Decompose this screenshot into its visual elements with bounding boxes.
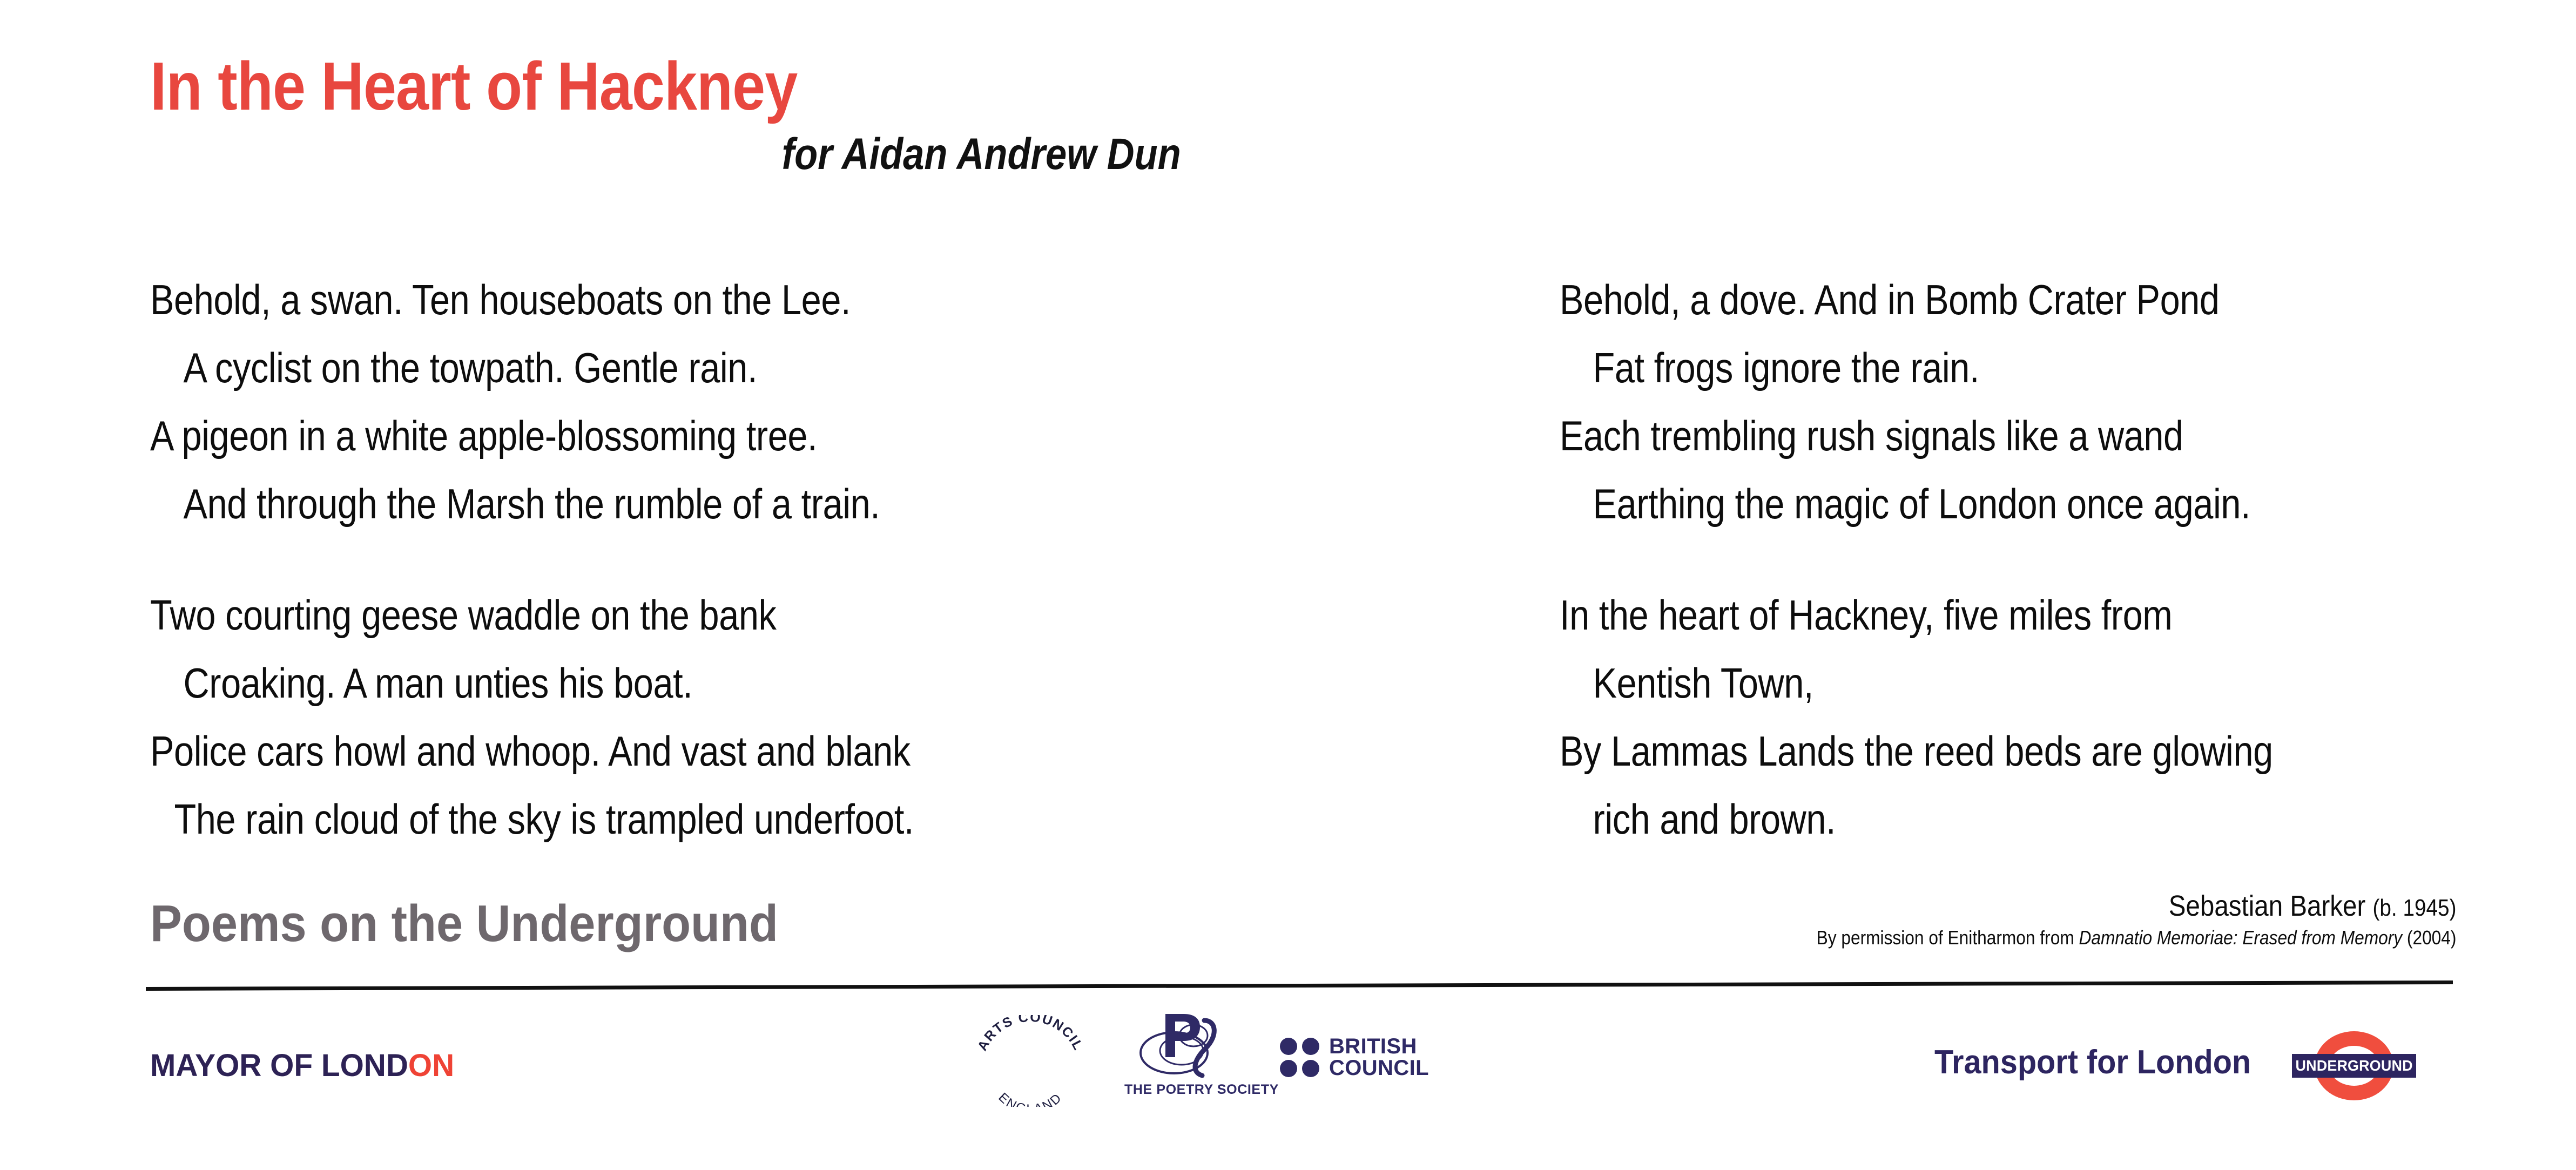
stanza: In the heart of Hackney, five miles from… <box>1560 581 2576 853</box>
poem-line: By Lammas Lands the reed beds are glowin… <box>1560 717 2469 785</box>
arts-council-bottom-text: ENGLAND <box>995 1090 1065 1107</box>
page-title: In the Heart of Hackney <box>150 52 1231 121</box>
arts-council-england-logo: ARTS COUNCIL ENGLAND <box>966 1015 1095 1107</box>
poetry-society-monogram <box>1135 1011 1243 1081</box>
poem-line: A cyclist on the towpath. Gentle rain. <box>150 334 1208 402</box>
poem-line: Earthing the magic of London once again. <box>1560 470 2469 538</box>
dot <box>1302 1038 1319 1055</box>
poem-line: Two courting geese waddle on the bank <box>150 581 1208 649</box>
logo-strip: MAYOR OF LONDON ARTS COUNCIL ENGLAND <box>0 1005 2576 1113</box>
permission-suffix: (2004) <box>2402 926 2456 949</box>
poem-dedication: for Aidan Andrew Dun <box>150 129 1218 180</box>
poem-column-left: Behold, a swan. Ten houseboats on the Le… <box>150 266 1387 853</box>
svg-text:ENGLAND: ENGLAND <box>995 1090 1065 1107</box>
author-credit: Sebastian Barker (b. 1945) <box>1816 890 2456 922</box>
dot <box>1302 1060 1319 1077</box>
dot <box>1280 1060 1297 1077</box>
poem-column-right: Behold, a dove. And in Bomb Crater Pond … <box>1387 266 2576 853</box>
poem-line: And through the Marsh the rumble of a tr… <box>150 470 1208 538</box>
footer-row: Poems on the Underground Sebastian Barke… <box>150 890 2456 950</box>
poem-line: A pigeon in a white apple-blossoming tre… <box>150 402 1208 470</box>
dot <box>1280 1038 1297 1055</box>
author-dates: (b. 1945) <box>2372 895 2456 921</box>
poem-body: Behold, a swan. Ten houseboats on the Le… <box>150 266 2451 853</box>
mayor-of-london-logo: MAYOR OF LONDON <box>150 1047 454 1084</box>
poem-line: Police cars howl and whoop. And vast and… <box>150 717 1208 785</box>
footer-divider <box>146 980 2453 991</box>
svg-text:ARTS COUNCIL: ARTS COUNCIL <box>975 1015 1087 1053</box>
poem-line: Fat frogs ignore the rain. <box>1560 334 2469 402</box>
poem-line: Behold, a swan. Ten houseboats on the Le… <box>150 266 1208 334</box>
stanza: Behold, a dove. And in Bomb Crater Pond … <box>1560 266 2576 538</box>
british-council-line1: BRITISH <box>1329 1036 1429 1057</box>
british-council-dots-icon <box>1280 1038 1319 1077</box>
poem-line: Croaking. A man unties his boat. <box>150 649 1208 717</box>
poem-line: In the heart of Hackney, five miles from <box>1560 581 2469 649</box>
roundel-label: UNDERGROUND <box>2295 1057 2412 1074</box>
permission-prefix: By permission of Enitharmon from <box>1816 926 2079 949</box>
poem-line: The rain cloud of the sky is trampled un… <box>150 785 1208 853</box>
british-council-line2: COUNCIL <box>1329 1057 1429 1079</box>
british-council-logo: BRITISH COUNCIL <box>1280 1036 1429 1079</box>
series-heading: Poems on the Underground <box>150 898 778 950</box>
british-council-wordmark: BRITISH COUNCIL <box>1329 1036 1429 1079</box>
attribution: Sebastian Barker (b. 1945) By permission… <box>1729 890 2456 950</box>
poem-line: Behold, a dove. And in Bomb Crater Pond <box>1560 266 2469 334</box>
roundel-bar: UNDERGROUND <box>2292 1054 2416 1078</box>
author-name: Sebastian Barker <box>2168 890 2365 922</box>
mayor-of-london-text: MAYOR OF LOND <box>150 1048 408 1083</box>
poem-line: Each trembling rush signals like a wand <box>1560 402 2469 470</box>
poem-line: rich and brown. <box>1560 785 2469 853</box>
stanza: Behold, a swan. Ten houseboats on the Le… <box>150 266 1387 538</box>
stanza: Two courting geese waddle on the bank Cr… <box>150 581 1387 853</box>
transport-for-london-logo: Transport for London <box>1934 1043 2251 1081</box>
london-underground-roundel: UNDERGROUND <box>2292 1031 2416 1101</box>
poetry-society-label: THE POETRY SOCIETY <box>1124 1082 1254 1098</box>
poem-poster: In the Heart of Hackney for Aidan Andrew… <box>0 0 2576 1170</box>
title-block: In the Heart of Hackney for Aidan Andrew… <box>150 52 1392 180</box>
mayor-of-london-accent: ON <box>408 1048 454 1083</box>
permission-source-title: Damnatio Memoriae: Erased from Memory <box>2079 926 2402 949</box>
permission-note: By permission of Enitharmon from Damnati… <box>1816 925 2456 950</box>
arts-council-top-text: ARTS COUNCIL <box>975 1015 1087 1053</box>
poetry-society-logo: THE POETRY SOCIETY <box>1124 1011 1254 1108</box>
poem-line: Kentish Town, <box>1560 649 2469 717</box>
